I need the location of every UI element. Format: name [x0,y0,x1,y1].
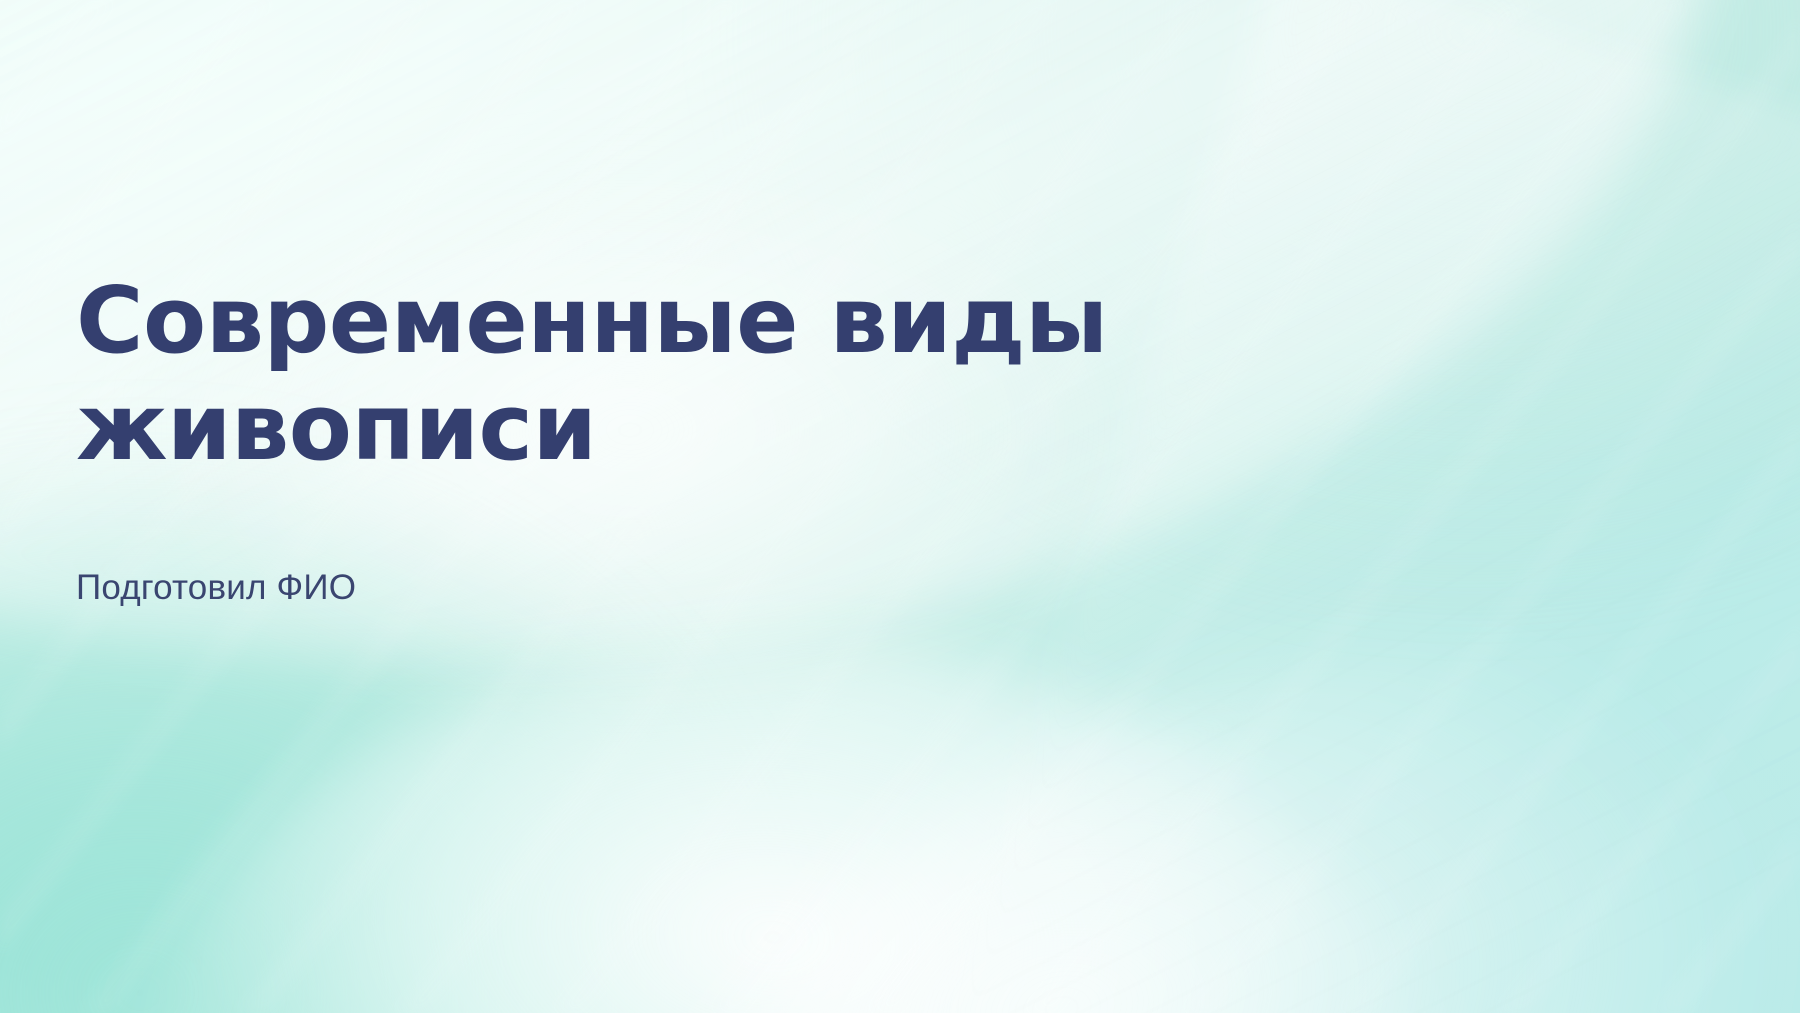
background-wave-right [569,542,1800,1013]
title-slide: Современные виды живописи Подготовил ФИО [0,0,1800,1013]
background-wave-center [90,587,1490,1013]
slide-subtitle: Подготовил ФИО [76,565,1376,611]
slide-title: Современные виды живописи [76,268,1376,481]
slide-content: Современные виды живописи Подготовил ФИО [76,268,1376,611]
